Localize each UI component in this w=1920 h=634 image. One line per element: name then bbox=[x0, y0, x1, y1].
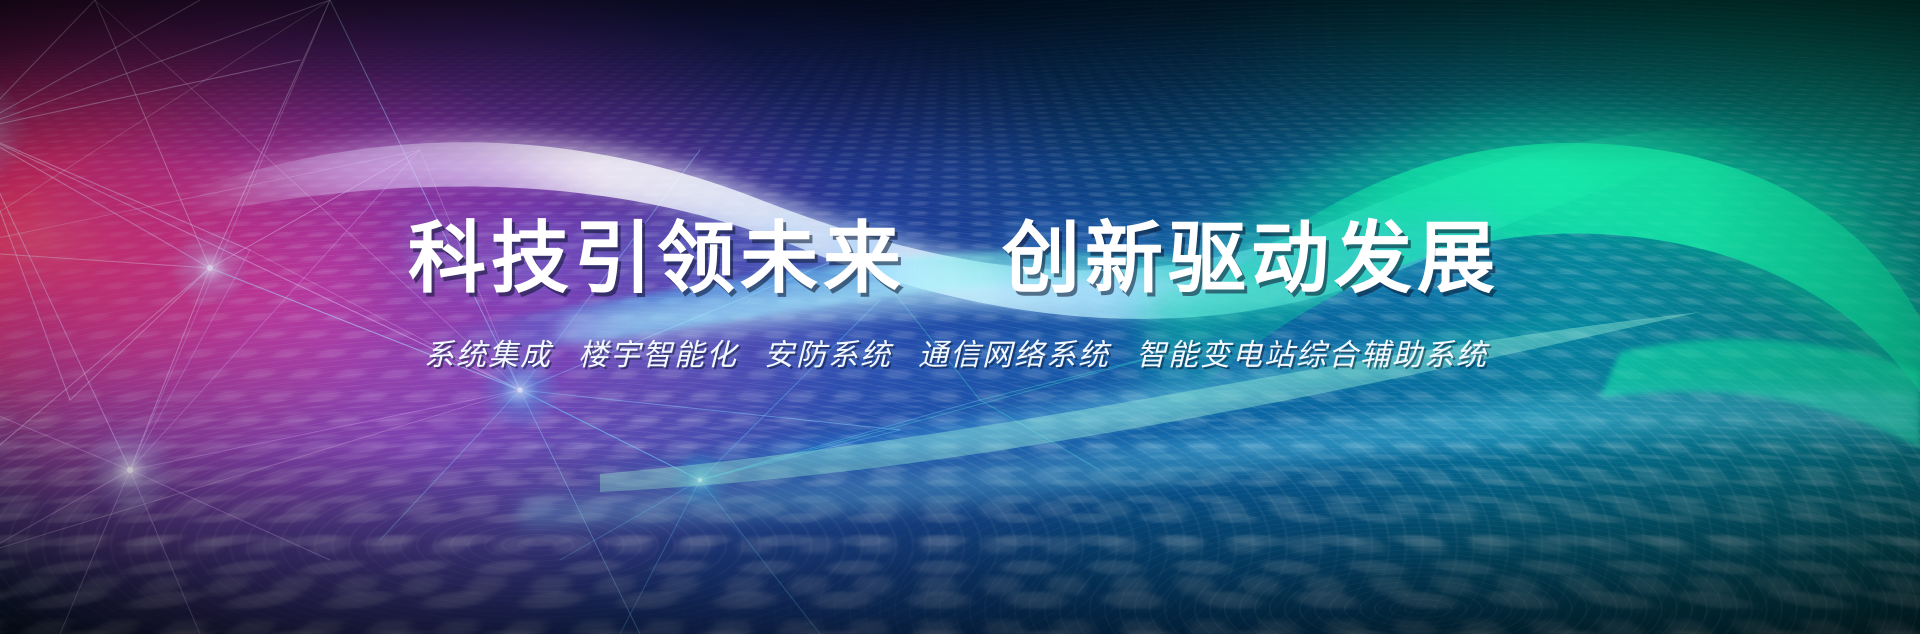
headline-phrase-1: 科技引领未来 bbox=[408, 196, 906, 308]
banner-text-block: 科技引领未来 创新驱动发展 系统集成楼宇智能化安防系统通信网络系统智能变电站综合… bbox=[0, 0, 1920, 634]
technology-banner: 科技引领未来 创新驱动发展 系统集成楼宇智能化安防系统通信网络系统智能变电站综合… bbox=[0, 0, 1920, 634]
headline-phrase-2: 创新驱动发展 bbox=[1002, 196, 1500, 308]
banner-headline: 科技引领未来 创新驱动发展 bbox=[408, 196, 1500, 308]
banner-subtitle: 系统集成楼宇智能化安防系统通信网络系统智能变电站综合辅助系统 bbox=[424, 330, 1488, 374]
subtitle-item-1: 系统集成 bbox=[424, 338, 552, 373]
subtitle-item-5: 智能变电站综合辅助系统 bbox=[1136, 338, 1488, 373]
subtitle-item-4: 通信网络系统 bbox=[918, 338, 1110, 373]
subtitle-item-3: 安防系统 bbox=[764, 338, 892, 373]
subtitle-item-2: 楼宇智能化 bbox=[578, 338, 738, 373]
